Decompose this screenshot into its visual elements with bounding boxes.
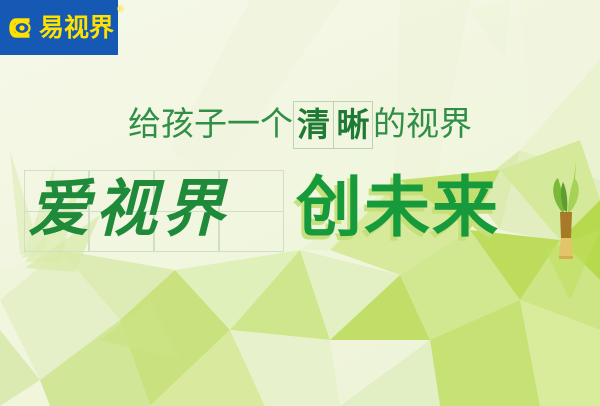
main-slogan: 爱视界 创未来 bbox=[0, 162, 600, 262]
logo-name: 易视界 bbox=[39, 13, 114, 42]
headline-char: 子 bbox=[194, 101, 227, 147]
registered-trademark-icon: ® bbox=[116, 6, 125, 15]
sprouting-plant-icon bbox=[540, 160, 592, 260]
headline-char: 一 bbox=[227, 101, 260, 147]
headline-char: 视 bbox=[406, 101, 439, 147]
brand-logo[interactable]: 易视界 ® bbox=[0, 0, 118, 55]
slogan-part-one: 爱视界 bbox=[28, 166, 229, 252]
promo-banner: 易视界 ® 给 孩 子 一 个 清 晰 的 视 界 爱视界 创未来 bbox=[0, 0, 600, 406]
headline-char-highlight: 晰 bbox=[333, 101, 373, 149]
headline-char-highlight: 清 bbox=[293, 101, 333, 149]
logo-wordmark: 易视界 ® bbox=[39, 15, 114, 40]
headline: 给 孩 子 一 个 清 晰 的 视 界 bbox=[0, 101, 600, 149]
headline-char: 界 bbox=[439, 101, 472, 147]
headline-char: 个 bbox=[260, 101, 293, 147]
stylized-e-eye-icon bbox=[7, 13, 37, 43]
headline-char: 的 bbox=[373, 101, 406, 147]
slogan-part-two: 创未来 bbox=[296, 164, 500, 252]
headline-char: 孩 bbox=[161, 101, 194, 147]
headline-char: 给 bbox=[128, 101, 161, 147]
